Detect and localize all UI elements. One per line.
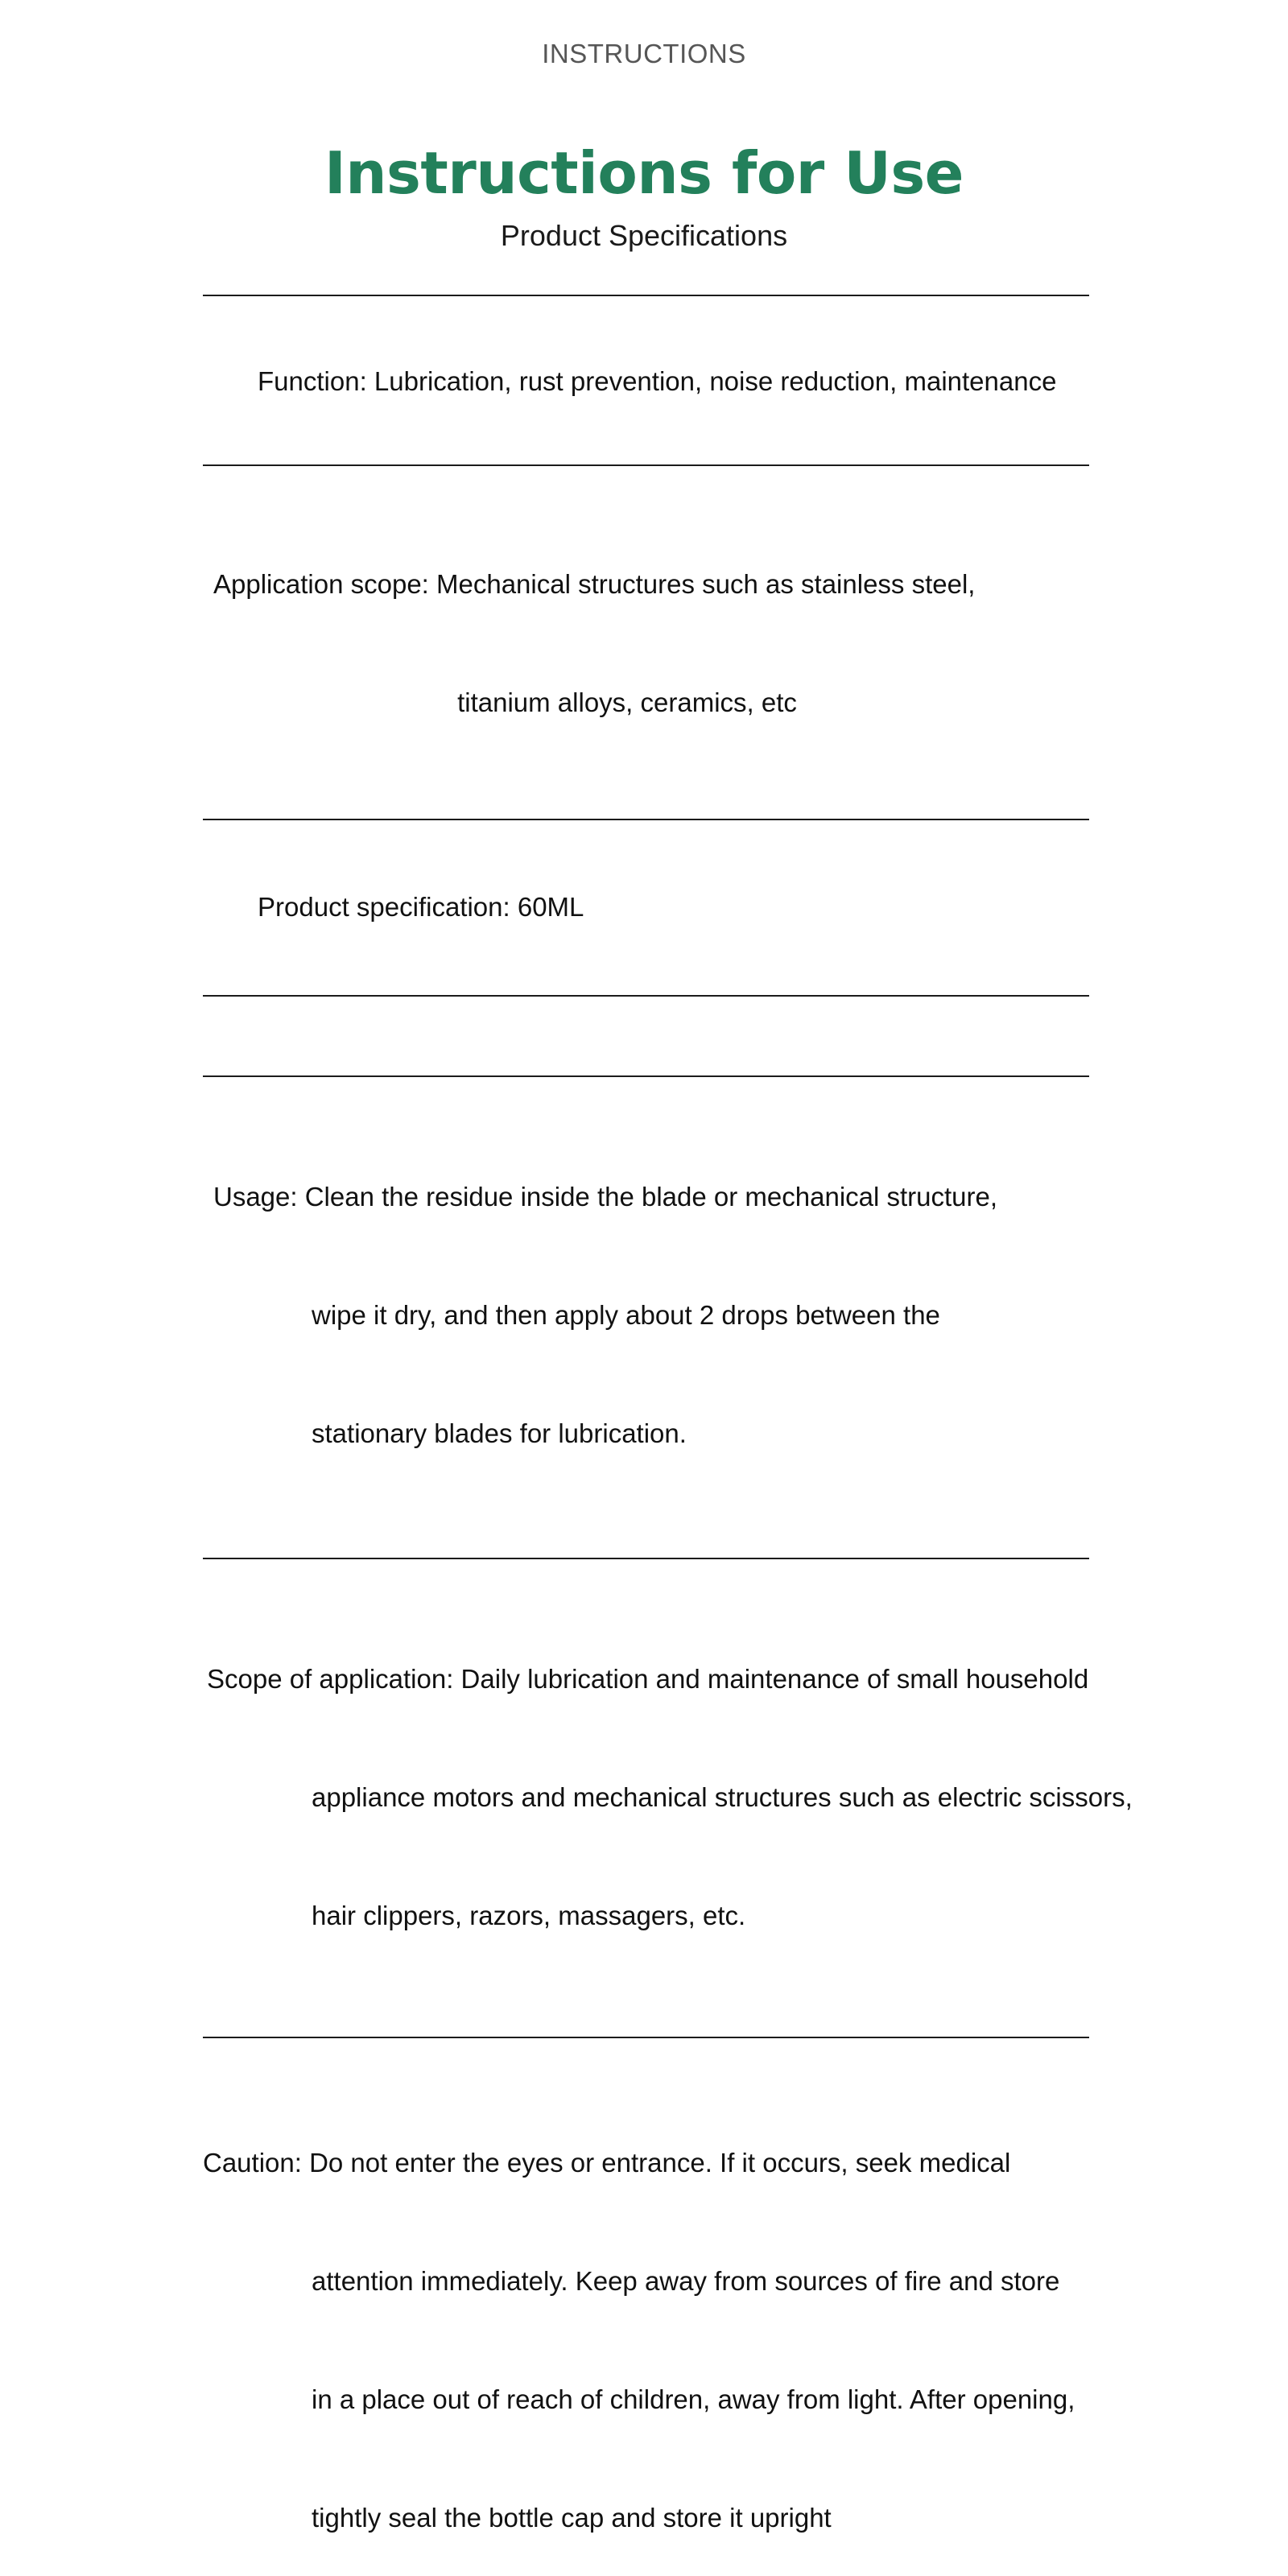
specification-table: Function: Lubrication, rust prevention, …: [203, 295, 1089, 2576]
spec-row-text: Function: Lubrication, rust prevention, …: [258, 366, 1056, 396]
spec-row-text: Scope of application: Daily lubrication …: [207, 1659, 1137, 1699]
table-row: Function: Lubrication, rust prevention, …: [203, 296, 1089, 464]
table-row-empty: [203, 997, 1089, 1075]
table-row: Application scope: Mechanical structures…: [203, 466, 1089, 819]
table-row: Product specification: 60ML: [203, 820, 1089, 995]
table-row: Caution: Do not enter the eyes or entran…: [203, 2038, 1137, 2576]
spec-row-text: Usage: Clean the residue inside the blad…: [213, 1177, 1089, 1216]
eyebrow-label: INSTRUCTIONS: [0, 39, 1288, 69]
page-title: Instructions for Use: [0, 138, 1288, 208]
spec-row-text-continued: in a place out of reach of children, awa…: [203, 2380, 1137, 2419]
page-subtitle: Product Specifications: [0, 219, 1288, 253]
spec-row-text-continued: stationary blades for lubrication.: [213, 1414, 1089, 1453]
spec-row-text-continued: hair clippers, razors, massagers, etc.: [207, 1896, 1137, 1935]
spec-row-text-continued: wipe it dry, and then apply about 2 drop…: [213, 1295, 1089, 1335]
spec-row-text-continued: attention immediately. Keep away from so…: [203, 2261, 1137, 2301]
spec-row-text-continued: appliance motors and mechanical structur…: [207, 1777, 1137, 1817]
spec-row-text: Application scope: Mechanical structures…: [213, 564, 1089, 604]
spec-row-text-continued: tightly seal the bottle cap and store it…: [203, 2498, 1137, 2537]
spec-row-text: Product specification: 60ML: [258, 892, 584, 922]
instruction-sheet-page: INSTRUCTIONS Instructions for Use Produc…: [0, 0, 1288, 1288]
spec-row-text: Caution: Do not enter the eyes or entran…: [203, 2143, 1137, 2182]
spec-row-text-continued: titanium alloys, ceramics, etc: [213, 683, 1089, 722]
table-row: Usage: Clean the residue inside the blad…: [203, 1077, 1089, 1558]
table-row: Scope of application: Daily lubrication …: [203, 1559, 1137, 2037]
